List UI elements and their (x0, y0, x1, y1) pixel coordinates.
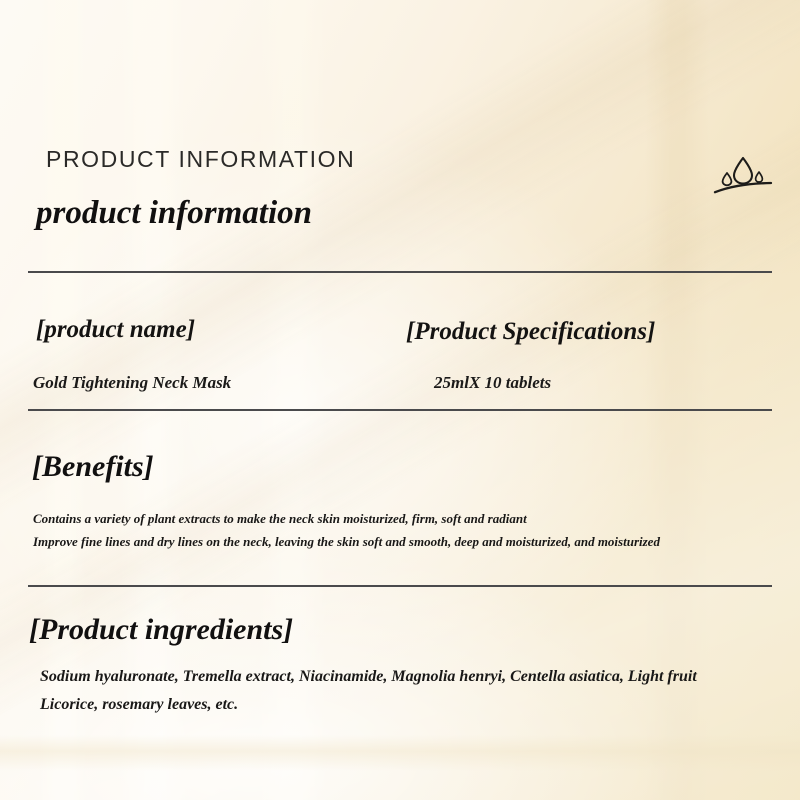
ingredients-line-1: Sodium hyaluronate, Tremella extract, Ni… (40, 668, 697, 686)
divider-rule-middle (28, 409, 772, 411)
product-name-value: Gold Tightening Neck Mask (33, 373, 231, 393)
benefits-line-2: Improve fine lines and dry lines on the … (33, 534, 660, 550)
product-information-page: PRODUCT INFORMATION product information … (0, 0, 800, 800)
ingredients-line-2: Licorice, rosemary leaves, etc. (40, 696, 238, 714)
product-specifications-label: [Product Specifications] (406, 318, 655, 346)
divider-rule-top (28, 271, 772, 273)
page-title: product information (36, 195, 312, 232)
benefits-heading: [Benefits] (32, 450, 154, 484)
ingredients-heading: [Product ingredients] (29, 613, 293, 647)
water-droplet-icon (712, 152, 774, 194)
benefits-line-1: Contains a variety of plant extracts to … (33, 511, 527, 527)
product-name-label: [product name] (36, 316, 195, 344)
eyebrow-label: PRODUCT INFORMATION (46, 146, 355, 173)
divider-rule-bottom (28, 585, 772, 587)
content-layer: PRODUCT INFORMATION product information … (0, 0, 800, 800)
product-specifications-value: 25mlX 10 tablets (434, 373, 551, 393)
